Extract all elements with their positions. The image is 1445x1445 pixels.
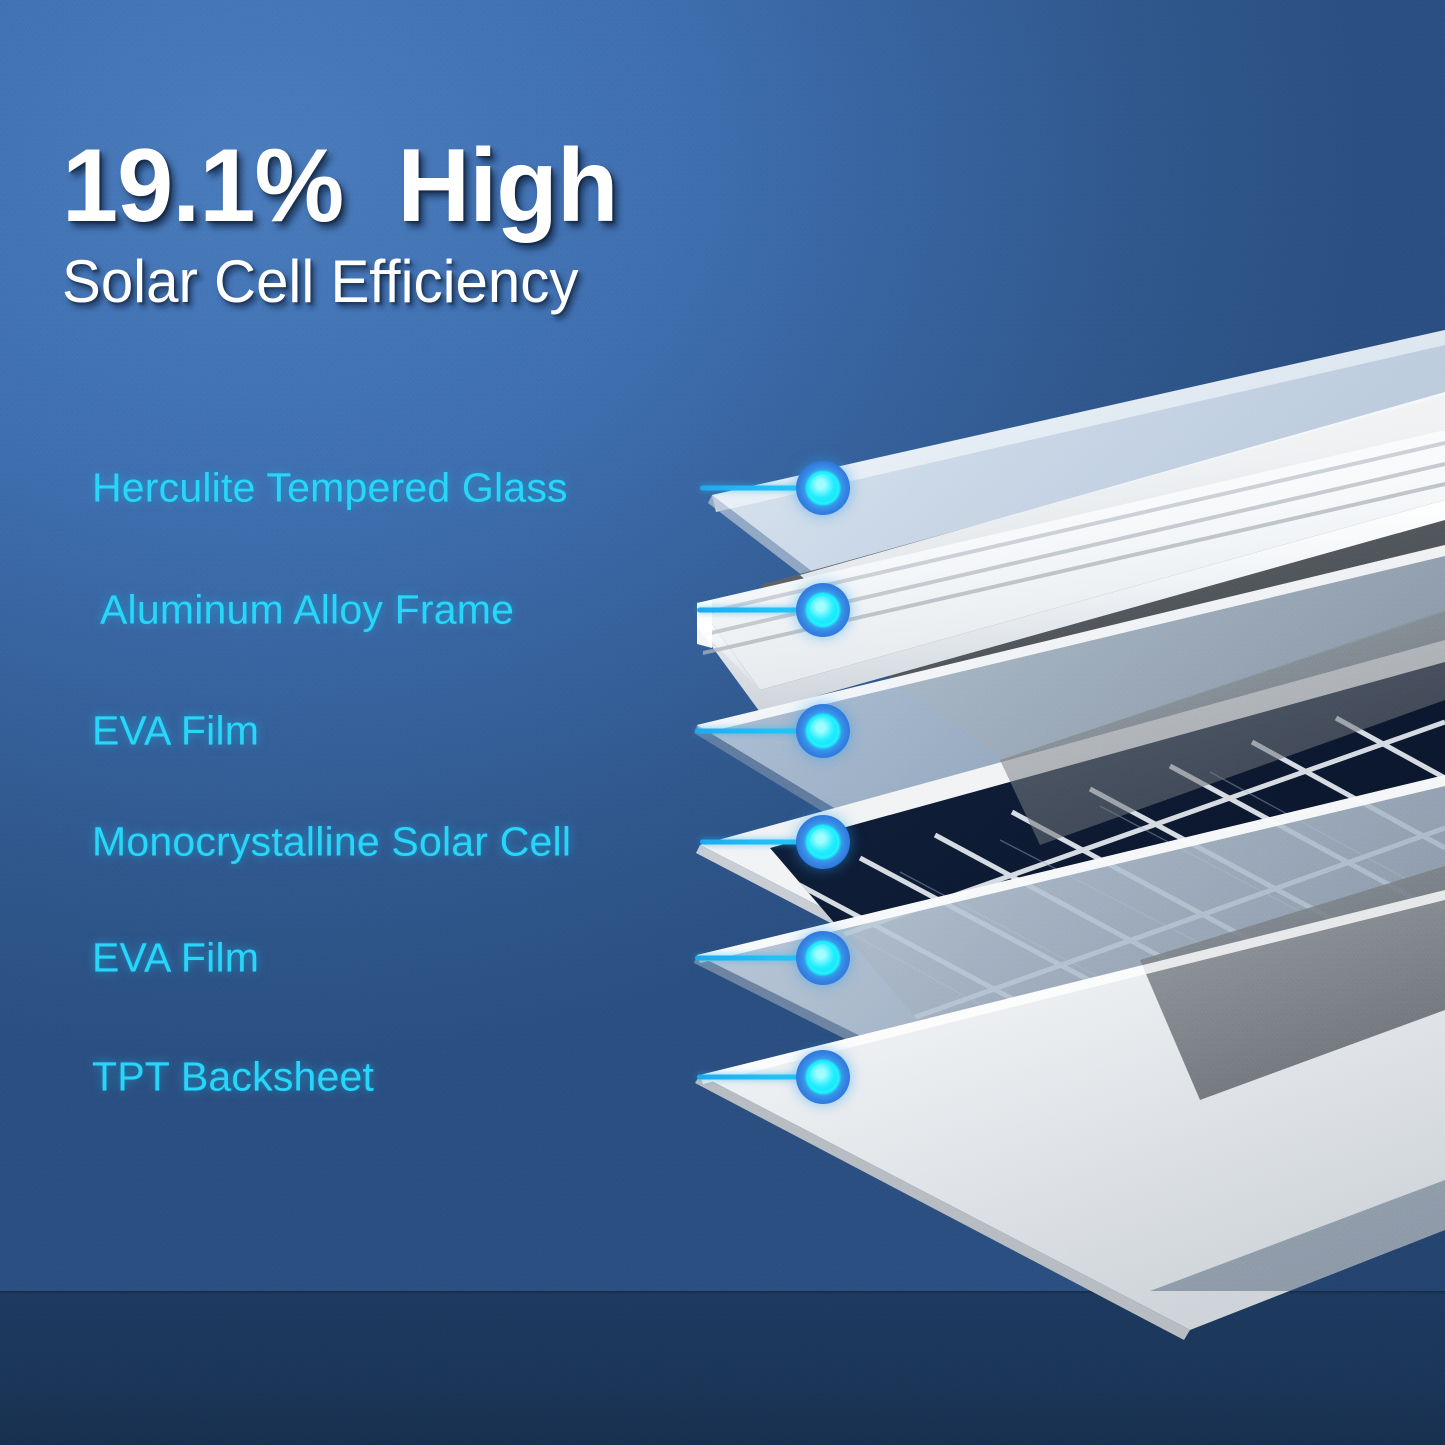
callout-leader-line — [697, 608, 798, 613]
callout-marker-dot — [796, 931, 850, 985]
callout-marker-dot — [796, 583, 850, 637]
callout-marker-dot — [796, 815, 850, 869]
callout-marker-dot — [796, 461, 850, 515]
callout-label: TPT Backsheet — [92, 1054, 374, 1101]
headline-block: 19.1% High Solar Cell Efficiency — [62, 134, 822, 313]
callout-label: EVA Film — [92, 708, 259, 755]
callout-marker-dot — [796, 1050, 850, 1104]
callout-label: EVA Film — [92, 935, 259, 982]
callout-leader-line — [697, 1075, 798, 1080]
headline-primary: 19.1% High — [62, 134, 799, 238]
callout-label: Aluminum Alloy Frame — [100, 587, 514, 634]
callout-leader-line — [700, 840, 798, 845]
callout-leader-line — [695, 729, 798, 734]
callout-label: Monocrystalline Solar Cell — [92, 819, 571, 866]
product-infographic: 19.1% High Solar Cell Efficiency Herculi… — [0, 0, 1445, 1445]
callout-leader-line — [700, 486, 798, 491]
callout-leader-line — [695, 956, 798, 961]
callout-marker-dot — [796, 704, 850, 758]
callout-label: Herculite Tempered Glass — [92, 465, 568, 512]
headline-secondary: Solar Cell Efficiency — [62, 250, 799, 313]
